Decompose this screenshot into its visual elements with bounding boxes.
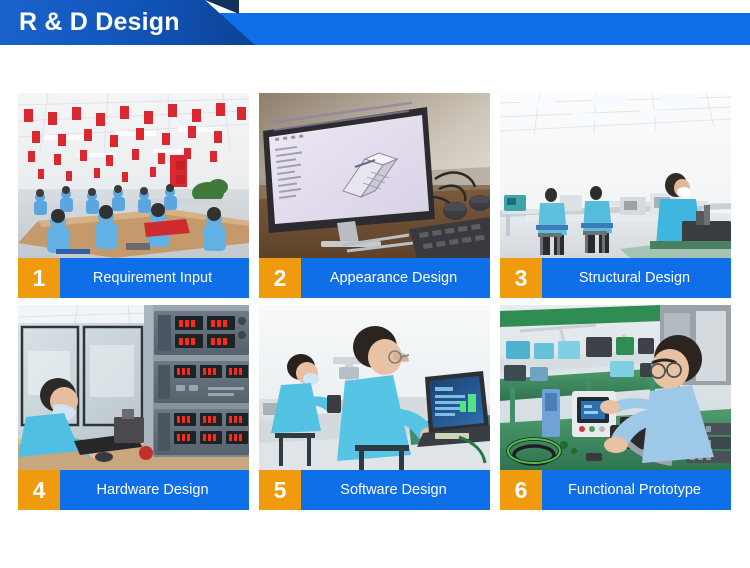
step-label-text: Software Design [301,470,490,510]
step-label-text: Appearance Design [301,258,490,298]
step-number-badge: 4 [18,470,60,510]
step-photo-requirement-input [18,93,249,258]
process-step-card: 1 Requirement Input [18,93,249,298]
step-photo-software-design [259,305,490,470]
process-step-card: 5 Software Design [259,305,490,510]
step-label-bar[interactable]: 5 Software Design [259,470,490,510]
step-photo-structural-design [500,93,731,258]
step-label-bar[interactable]: 4 Hardware Design [18,470,249,510]
step-label-bar[interactable]: 6 Functional Prototype [500,470,731,510]
step-label-text: Functional Prototype [542,470,731,510]
step-label-text: Hardware Design [60,470,249,510]
step-photo-functional-prototype [500,305,731,470]
step-label-text: Requirement Input [60,258,249,298]
page-title: R & D Design [19,6,180,38]
step-number-badge: 1 [18,258,60,298]
step-label-text: Structural Design [542,258,731,298]
step-label-bar[interactable]: 3 Structural Design [500,258,731,298]
step-label-bar[interactable]: 2 Appearance Design [259,258,490,298]
step-photo-appearance-design [259,93,490,258]
process-step-card: 2 Appearance Design [259,93,490,298]
process-step-card: 6 Functional Prototype [500,305,731,510]
process-step-card: 3 Structural Design [500,93,731,298]
step-number-badge: 2 [259,258,301,298]
step-number-badge: 6 [500,470,542,510]
page-header-banner: R & D Design [0,0,750,45]
process-step-card: 4 Hardware Design [18,305,249,510]
step-label-bar[interactable]: 1 Requirement Input [18,258,249,298]
process-step-grid: 1 Requirement Input [18,93,732,510]
step-number-badge: 5 [259,470,301,510]
step-number-badge: 3 [500,258,542,298]
step-photo-hardware-design [18,305,249,470]
